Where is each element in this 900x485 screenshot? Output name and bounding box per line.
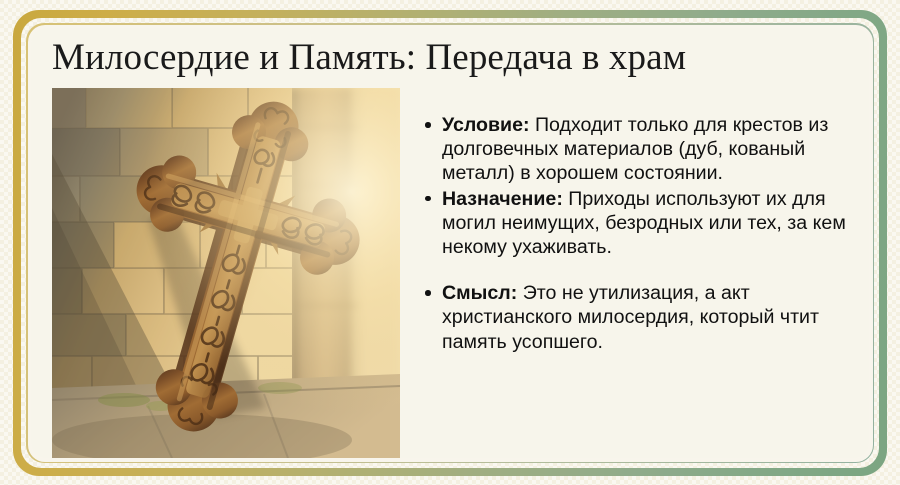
slide-root: Милосердие и Память: Передача в храм xyxy=(0,0,900,485)
carved-cross-illustration xyxy=(52,88,400,458)
bullet-dot-icon xyxy=(425,196,431,202)
slide-title: Милосердие и Память: Передача в храм xyxy=(52,37,868,78)
bullet-lead-label: Назначение: xyxy=(442,188,563,210)
list-item: Назначение: Приходы используют их для мо… xyxy=(421,187,856,260)
list-item: Смысл: Это не утилизация, а акт христиан… xyxy=(421,281,856,354)
content-panel: Милосердие и Память: Передача в храм xyxy=(31,28,869,458)
bullet-dot-icon xyxy=(425,122,431,128)
bullet-dot-icon xyxy=(425,290,431,296)
bullet-lead-label: Условие: xyxy=(442,114,530,136)
bullet-list: Условие: Подходит только для крестов из … xyxy=(421,113,856,354)
list-item: Условие: Подходит только для крестов из … xyxy=(421,113,856,186)
cross-photo xyxy=(52,88,400,458)
bullet-lead-label: Смысл: xyxy=(442,282,517,304)
